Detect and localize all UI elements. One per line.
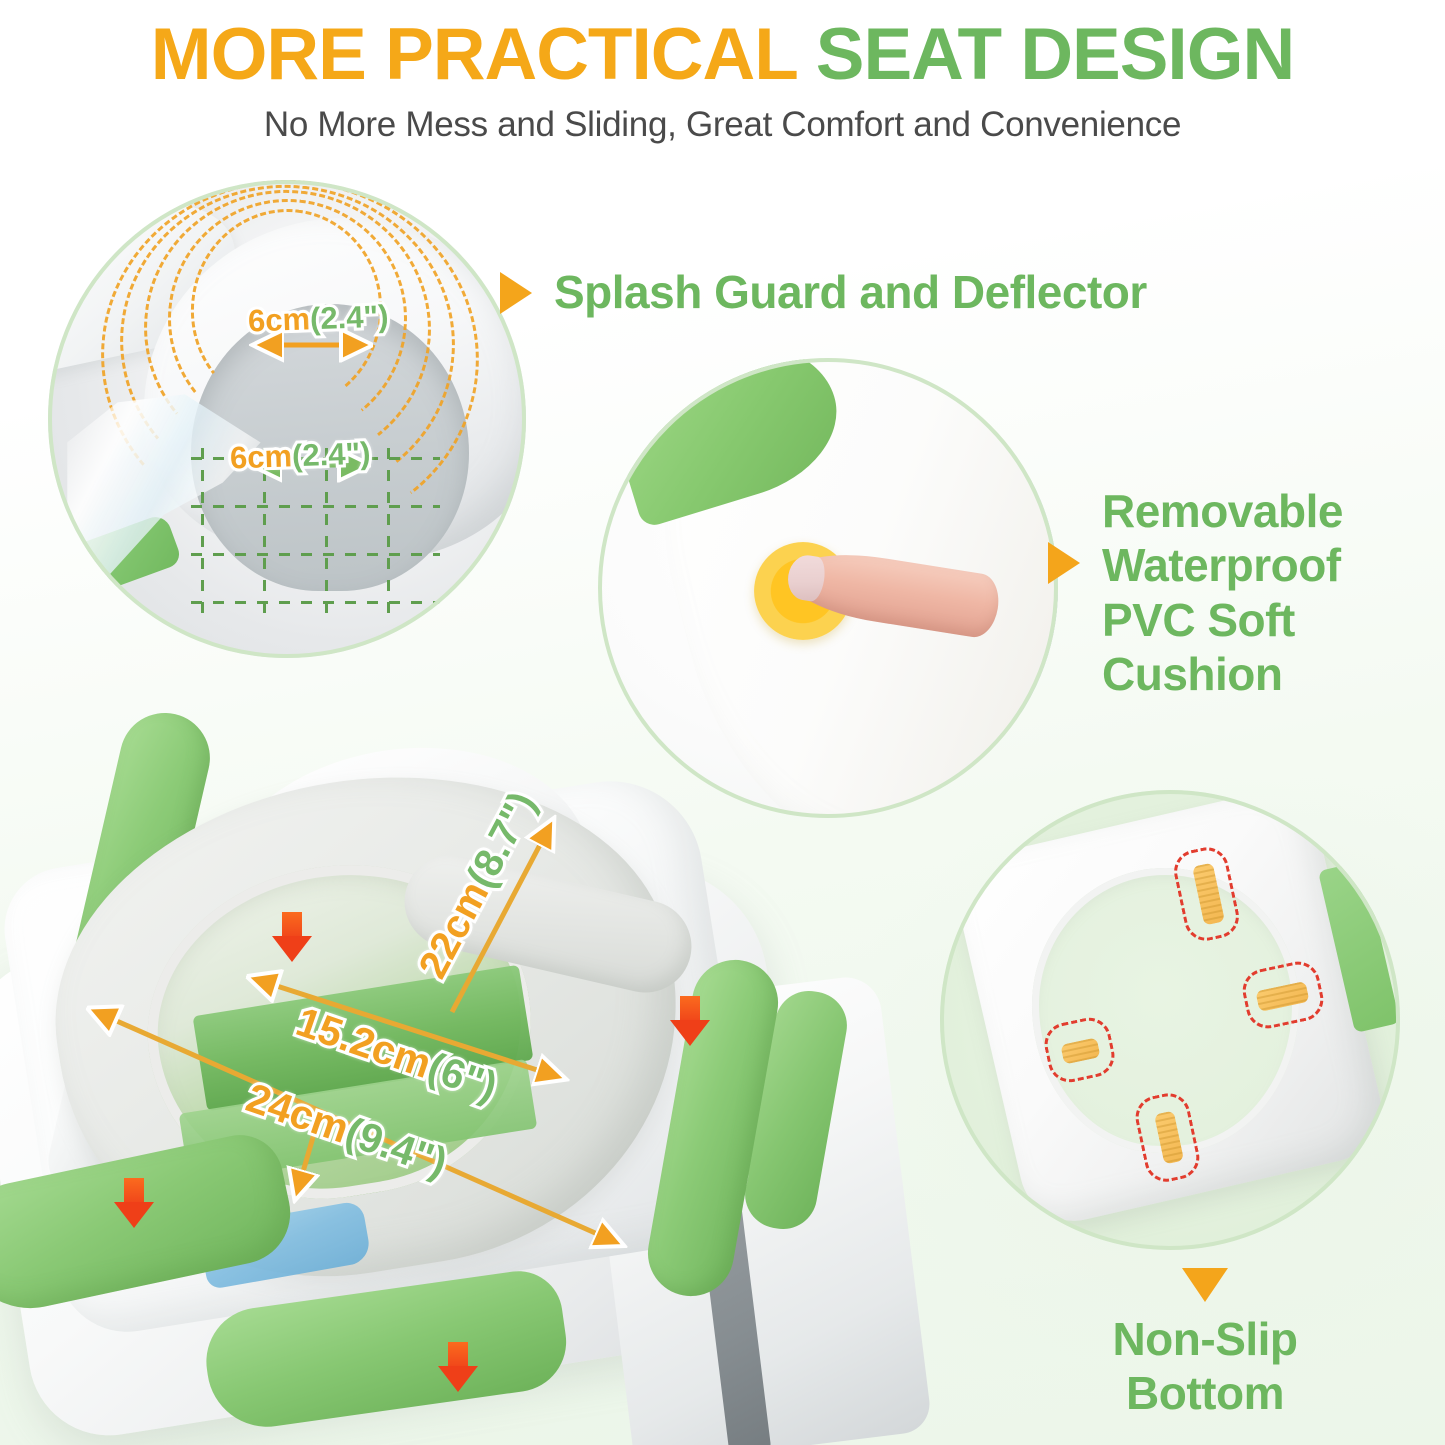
measure-grid-line <box>387 448 390 620</box>
infographic-page: MORE PRACTICAL SEAT DESIGN No More Mess … <box>0 0 1445 1445</box>
callout-pvc-cushion: Removable Waterproof PVC Soft Cushion <box>1048 484 1343 701</box>
callout-non-slip-bottom-label: Non-Slip Bottom <box>1040 1312 1370 1421</box>
callout-non-slip-bottom: Non-Slip Bottom <box>1040 1268 1370 1421</box>
callout-pvc-cushion-label: Removable Waterproof PVC Soft Cushion <box>1102 484 1343 701</box>
callout-splash-guard: Splash Guard and Deflector <box>500 265 1147 319</box>
pvc-cushion-photo <box>598 358 1058 818</box>
measure-grid-line <box>201 448 204 620</box>
page-title: MORE PRACTICAL SEAT DESIGN <box>0 18 1445 91</box>
header: MORE PRACTICAL SEAT DESIGN No More Mess … <box>0 18 1445 145</box>
measure-grid-line <box>191 601 440 604</box>
page-title-part-green: SEAT DESIGN <box>816 14 1294 95</box>
page-subtitle: No More Mess and Sliding, Great Comfort … <box>0 105 1445 145</box>
triangle-down-icon <box>1182 1268 1228 1302</box>
triangle-right-icon <box>1048 542 1080 584</box>
triangle-right-icon <box>500 272 532 314</box>
measure-grid-line <box>191 505 440 508</box>
splash-upper-dim-label: 6cm(2.4") <box>248 301 389 337</box>
measure-grid-line <box>325 448 328 620</box>
callout-splash-guard-label: Splash Guard and Deflector <box>554 265 1147 319</box>
splash-guard-photo <box>48 180 526 658</box>
page-title-part-orange: MORE PRACTICAL <box>151 14 816 95</box>
splash-lower-dim-label: 6cm(2.4") <box>230 438 371 474</box>
non-slip-bottom-photo <box>940 790 1400 1250</box>
measure-grid-line <box>191 553 440 556</box>
